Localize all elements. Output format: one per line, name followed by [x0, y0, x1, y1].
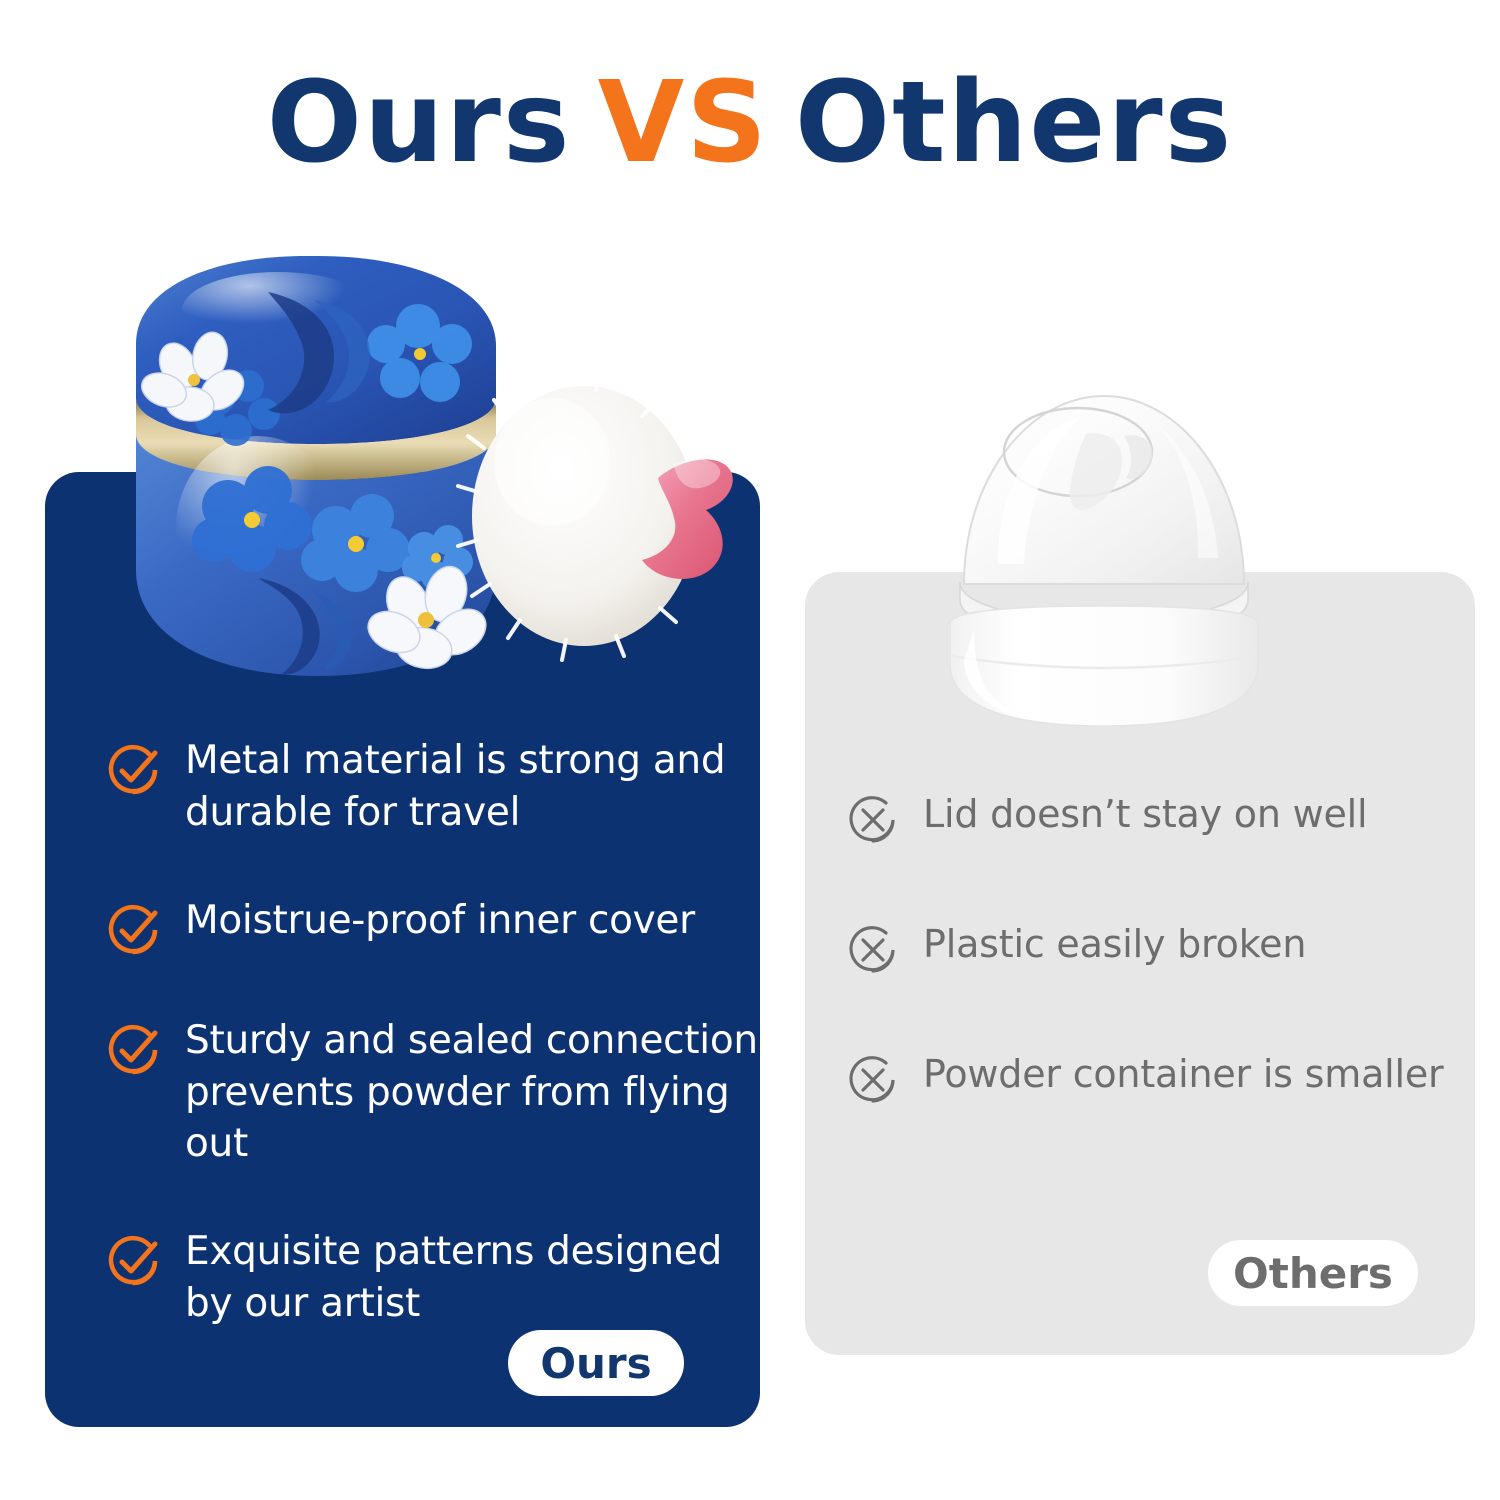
feature-text: Metal material is strong and durable for…: [185, 735, 765, 839]
container-base: [950, 606, 1258, 726]
comparison-infographic: OursVSOthers: [0, 0, 1500, 1500]
product-image-others: [878, 368, 1330, 730]
ours-feature-list: Metal material is strong and durable for…: [105, 735, 765, 1330]
feature-text: Exquisite patterns designed by our artis…: [185, 1226, 765, 1330]
product-image-ours: [118, 248, 738, 688]
page-title: OursVSOthers: [0, 62, 1500, 185]
list-item: Sturdy and sealed connection prevents po…: [105, 1015, 765, 1171]
x-circle-icon: [845, 1052, 901, 1108]
title-word-others: Others: [795, 58, 1233, 188]
feature-text: Sturdy and sealed connection prevents po…: [185, 1015, 765, 1171]
check-circle-icon: [105, 1232, 163, 1290]
others-drawback-list: Lid doesn’t stay on well Plastic easily …: [845, 790, 1465, 1108]
drawback-text: Lid doesn’t stay on well: [923, 790, 1367, 839]
x-circle-icon: [845, 792, 901, 848]
drawback-text: Powder container is smaller: [923, 1050, 1443, 1099]
list-item: Powder container is smaller: [845, 1050, 1465, 1108]
check-circle-icon: [105, 901, 163, 959]
x-circle-icon: [845, 922, 901, 978]
list-item: Moistrue-proof inner cover: [105, 895, 765, 959]
ours-badge: Ours: [508, 1330, 684, 1396]
feature-text: Moistrue-proof inner cover: [185, 895, 695, 947]
list-item: Metal material is strong and durable for…: [105, 735, 765, 839]
list-item: Lid doesn’t stay on well: [845, 790, 1465, 848]
check-circle-icon: [105, 1021, 163, 1079]
title-word-vs: VS: [598, 58, 769, 188]
list-item: Plastic easily broken: [845, 920, 1465, 978]
list-item: Exquisite patterns designed by our artis…: [105, 1226, 765, 1330]
check-circle-icon: [105, 741, 163, 799]
title-word-ours: Ours: [267, 58, 572, 188]
drawback-text: Plastic easily broken: [923, 920, 1306, 969]
others-badge: Others: [1208, 1240, 1418, 1306]
